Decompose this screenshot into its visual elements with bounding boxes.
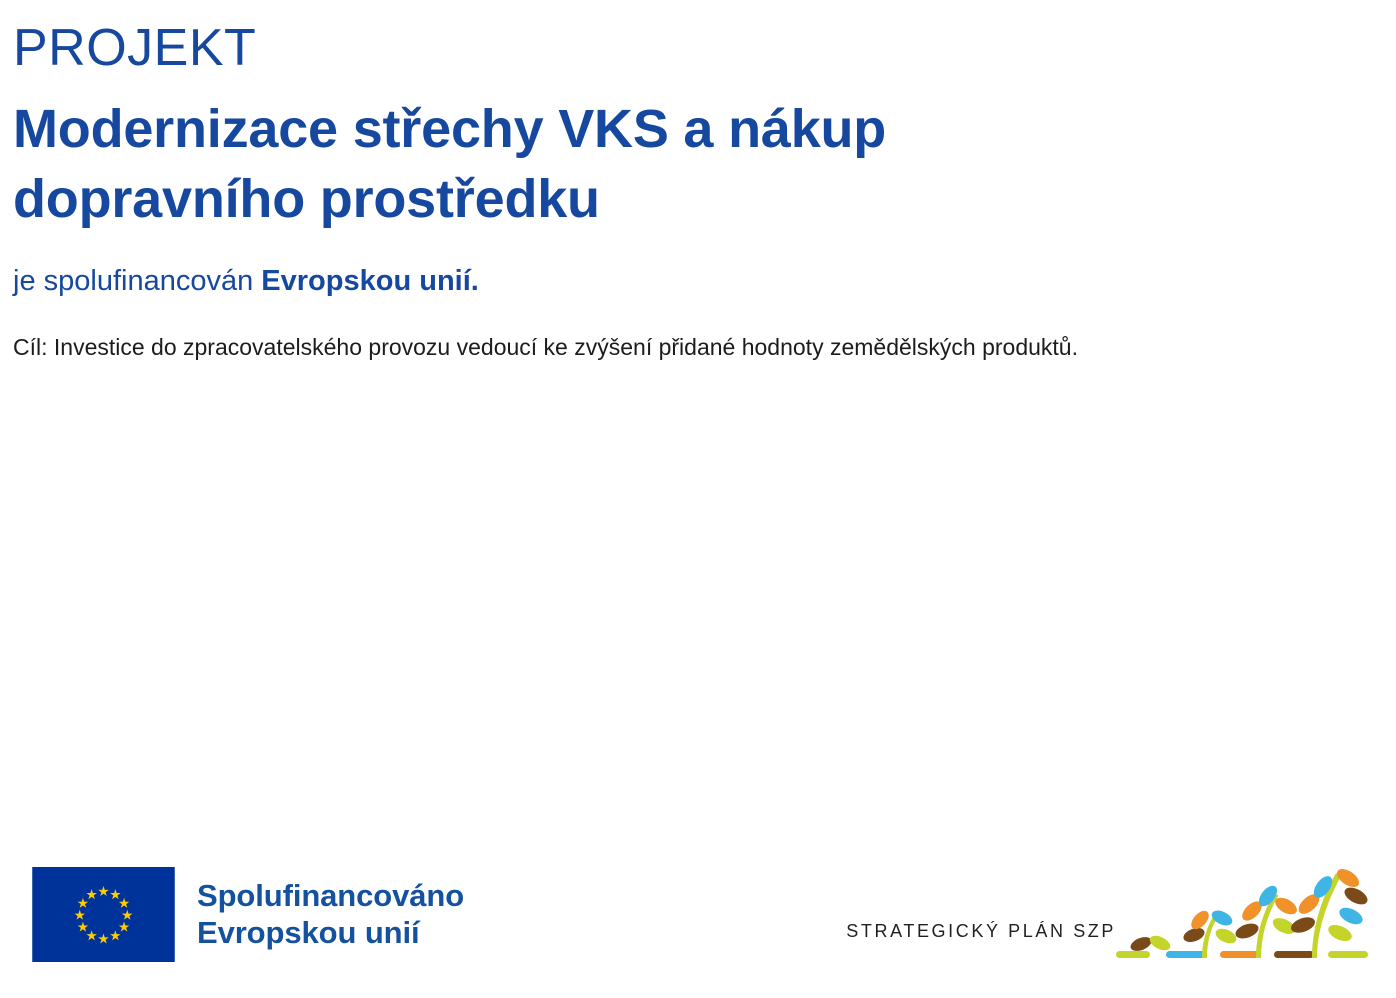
- poster-eyebrow: PROJEKT: [13, 20, 1353, 76]
- cofinancing-statement: je spolufinancován Evropskou unií.: [13, 263, 1353, 301]
- growing-plants-icon: [1116, 863, 1396, 968]
- eu-cofunding-caption: Spolufinancováno Evropskou unií: [197, 878, 464, 951]
- eu-flag-icon: [32, 867, 175, 962]
- cofinancing-emphasis: Evropskou unií.: [261, 265, 479, 297]
- poster-text-block: PROJEKT Modernizace střechy VKS a nákup …: [13, 20, 1353, 363]
- project-poster: PROJEKT Modernizace střechy VKS a nákup …: [0, 0, 1396, 998]
- cofinancing-prefix: je spolufinancován: [13, 265, 261, 297]
- eu-cofunding-logo: Spolufinancováno Evropskou unií: [32, 867, 464, 962]
- szp-strategic-plan-logo: STRATEGICKÝ PLÁN SZP: [846, 863, 1396, 968]
- page-title: Modernizace střechy VKS a nákup dopravní…: [13, 94, 1073, 234]
- szp-wordmark: STRATEGICKÝ PLÁN SZP: [846, 921, 1116, 968]
- project-goal: Cíl: Investice do zpracovatelského provo…: [13, 332, 1353, 363]
- poster-footer: Spolufinancováno Evropskou unií STRATEGI…: [0, 828, 1396, 998]
